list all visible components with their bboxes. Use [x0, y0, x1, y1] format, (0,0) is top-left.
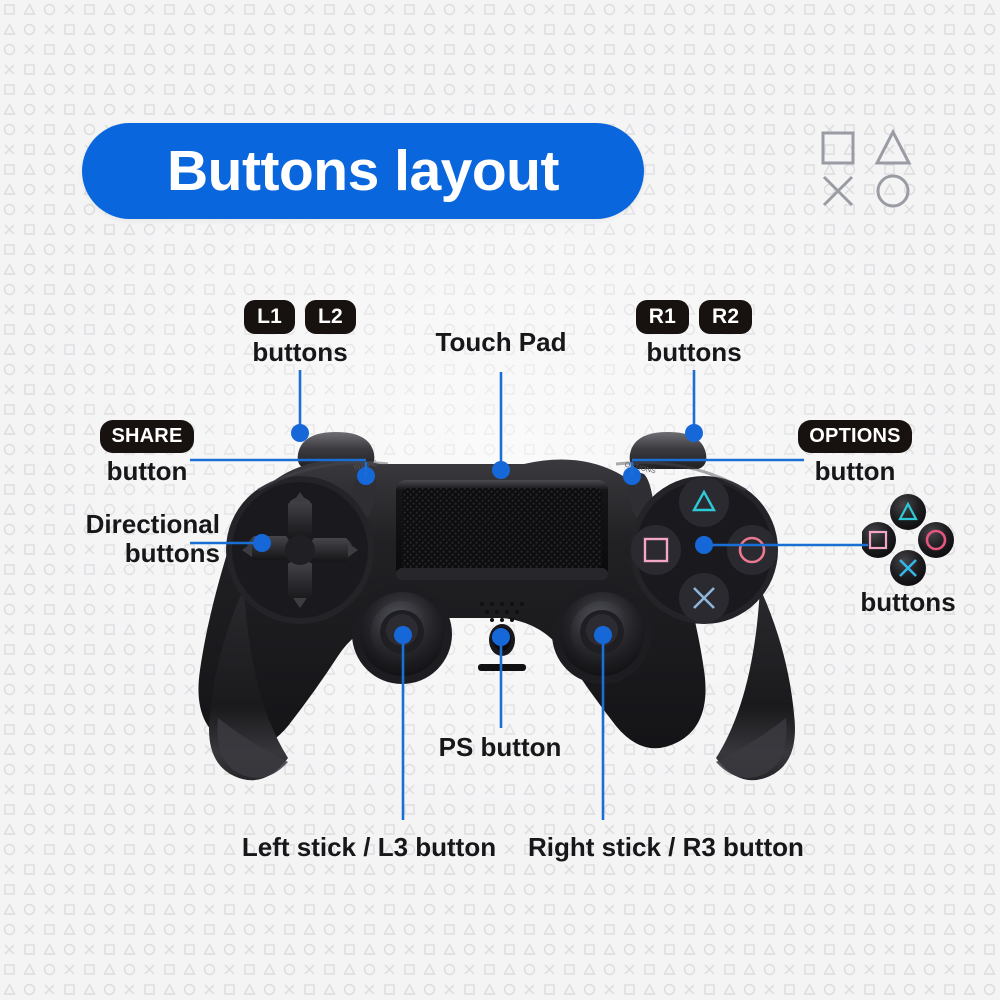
callout-right-stick: Right stick / R3 button	[528, 833, 798, 862]
badge-share: SHARE	[100, 420, 193, 453]
infographic-canvas: Buttons layout	[0, 0, 1000, 1000]
right-stick-label: Right stick / R3 button	[528, 833, 798, 862]
callout-share: SHARE button	[44, 420, 250, 486]
left-shoulder-badges: L1 L2	[198, 300, 402, 334]
callout-touch-pad: Touch Pad	[399, 328, 603, 357]
action-buttons-label: buttons	[828, 588, 988, 617]
right-shoulder-badges: R1 R2	[592, 300, 796, 334]
callout-directional: Directional buttons	[20, 510, 220, 568]
legend-square-button	[862, 522, 896, 558]
cross-icon	[824, 177, 852, 205]
callout-action-buttons: buttons	[828, 588, 988, 617]
badge-l2: L2	[305, 300, 356, 334]
left-stick	[352, 584, 452, 684]
share-badge-row: SHARE	[44, 420, 250, 453]
options-label: button	[752, 457, 958, 486]
playstation-symbols-logo	[818, 128, 914, 210]
callout-options: OPTIONS button	[752, 420, 958, 486]
callout-right-shoulder: R1 R2 buttons	[592, 300, 796, 367]
ps-button-label: PS button	[400, 733, 600, 762]
badge-l1: L1	[244, 300, 295, 334]
triangle-button	[679, 477, 729, 527]
options-badge-row: OPTIONS	[752, 420, 958, 453]
triangle-icon	[877, 132, 909, 163]
circle-button	[727, 525, 777, 575]
legend-triangle-button	[890, 494, 926, 530]
callout-ps-button: PS button	[400, 733, 600, 762]
page-title: Buttons layout	[167, 143, 559, 200]
circle-icon	[878, 176, 908, 206]
directional-label-line1: Directional	[20, 510, 220, 539]
action-buttons-legend	[862, 492, 954, 588]
left-shoulder-label: buttons	[198, 338, 402, 367]
legend-circle-button	[918, 522, 954, 558]
square-icon	[823, 133, 853, 163]
touch-pad-label: Touch Pad	[399, 328, 603, 357]
directional-label-line2: buttons	[20, 539, 220, 568]
badge-options: OPTIONS	[798, 420, 911, 453]
square-button	[631, 525, 681, 575]
callout-left-shoulder: L1 L2 buttons	[198, 300, 402, 367]
callout-left-stick: Left stick / L3 button	[238, 833, 500, 862]
right-stick	[552, 584, 652, 684]
page-title-pill: Buttons layout	[82, 123, 644, 219]
right-shoulder-label: buttons	[592, 338, 796, 367]
badge-r2: R2	[699, 300, 752, 334]
share-label: button	[44, 457, 250, 486]
badge-r1: R1	[636, 300, 689, 334]
left-stick-label: Left stick / L3 button	[238, 833, 500, 862]
